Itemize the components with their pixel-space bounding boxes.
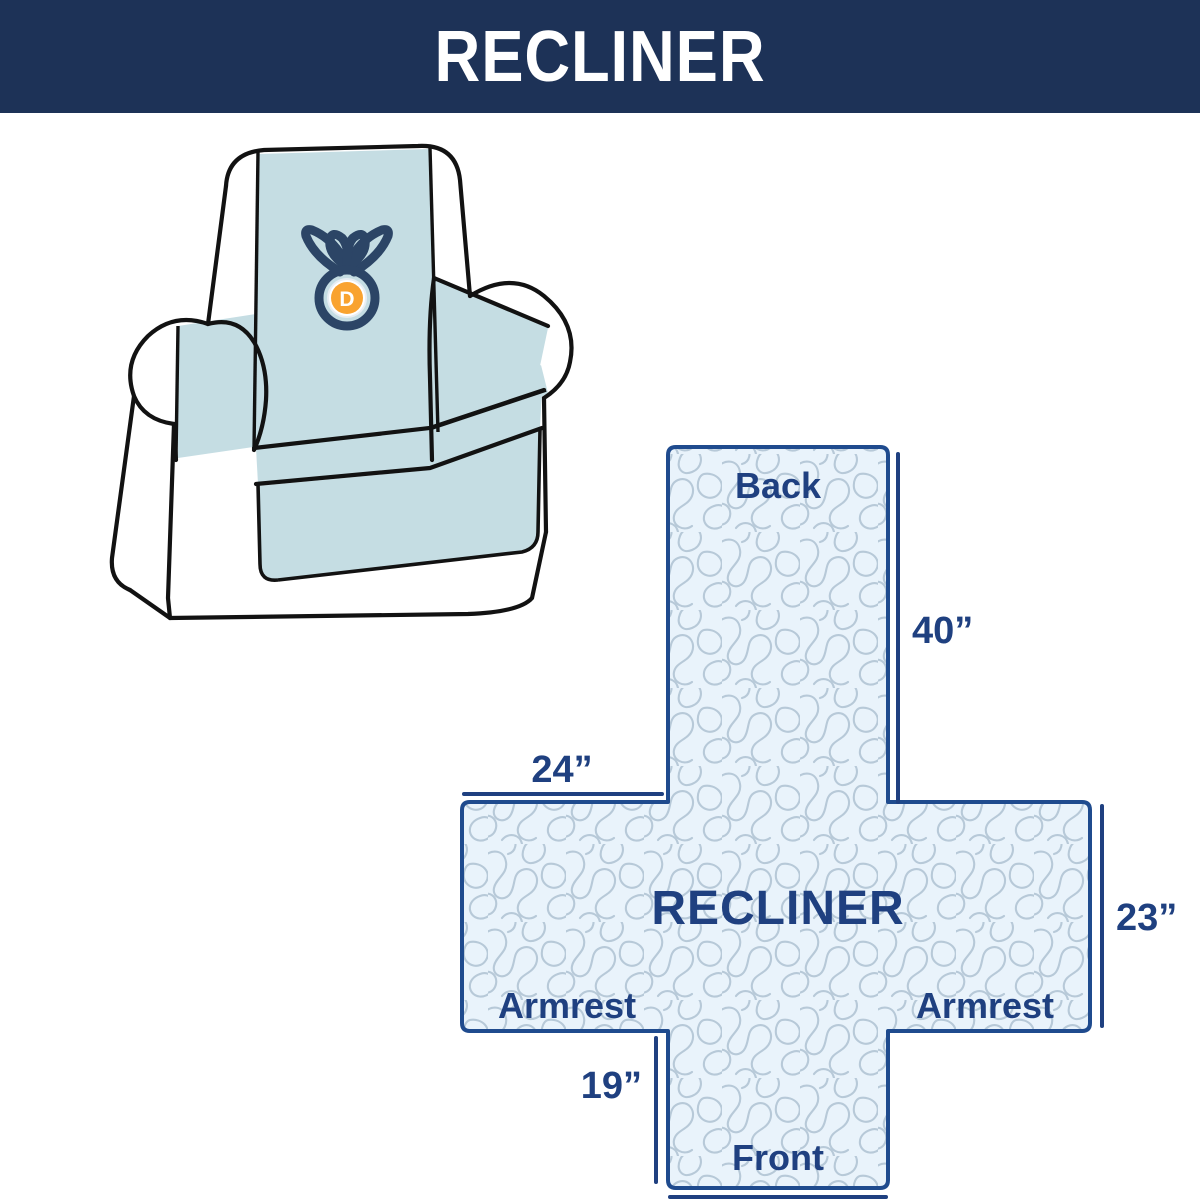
dimension-value-19: 19” — [581, 1065, 642, 1107]
dimension-value-40: 40” — [912, 610, 973, 652]
dimension-back-height: 40” — [898, 454, 973, 802]
dimension-arm-depth: 23” — [1102, 806, 1177, 1026]
cover-pattern-diagram: Back RECLINER Armrest Armrest Front 40” … — [410, 298, 1200, 1198]
panel-label-center: RECLINER — [651, 882, 904, 935]
dimension-arm-width: 24” — [464, 749, 662, 794]
panel-label-armrest-left: Armrest — [498, 985, 636, 1026]
cover-cross-shape — [462, 447, 1090, 1188]
chair-left-arm-cover-edge — [176, 326, 178, 458]
page-title: RECLINER — [435, 21, 766, 93]
dimension-value-24-top: 24” — [531, 749, 592, 791]
panel-label-armrest-right: Armrest — [916, 985, 1054, 1026]
panel-label-back: Back — [735, 465, 822, 506]
header-bar: RECLINER — [0, 0, 1200, 113]
panel-label-front: Front — [732, 1137, 824, 1178]
dimension-value-23: 23” — [1116, 897, 1177, 939]
diagram-stage: D — [0, 113, 1200, 1200]
chair-base-left — [112, 396, 134, 590]
dimension-front-height: 19” — [581, 1038, 656, 1182]
cover-cross-outline — [462, 447, 1090, 1188]
chair-backrest-left-edge — [208, 186, 226, 324]
logo-letter: D — [339, 288, 354, 311]
chair-base-front-left — [168, 424, 174, 618]
